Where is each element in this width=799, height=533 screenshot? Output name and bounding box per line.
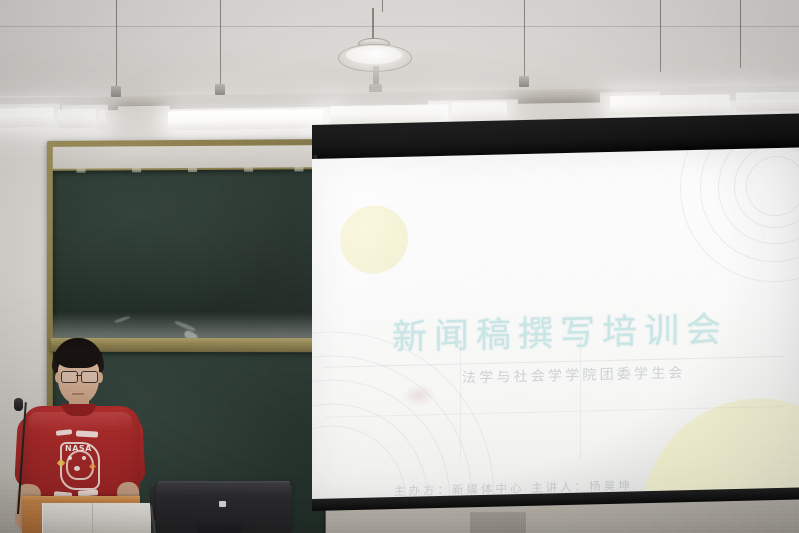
light-tube-icon [168, 109, 323, 130]
tshirt-graphic: NASA [52, 430, 104, 502]
blackboard-clip [244, 168, 253, 172]
fan-rod [372, 8, 374, 40]
slide-subtitle: 法学与社会学学院团委学生会 [462, 362, 686, 387]
light-tube-icon [736, 91, 799, 111]
slide-decor-circle-top-left [340, 205, 408, 275]
suspension-wire [660, 0, 661, 72]
graphic-dot [82, 456, 86, 460]
suspension-wire [116, 0, 117, 88]
suspension-wire [382, 0, 383, 12]
blackboard-clip [188, 168, 197, 172]
slide-decor-arc [746, 155, 799, 216]
wire-mount [215, 84, 225, 95]
glasses-icon [61, 371, 78, 383]
suspension-wire [740, 0, 741, 68]
microphone-head [14, 398, 23, 411]
baseboard-strip [470, 512, 526, 533]
light-tube-icon [452, 102, 507, 122]
light-tube-icon [0, 107, 54, 127]
suspension-wire [524, 0, 525, 78]
light-tube-icon [98, 110, 106, 129]
monitor-badge [219, 501, 226, 507]
monitor-stand-hinge [196, 514, 242, 533]
suspension-wire [220, 0, 221, 86]
slide-decor-line [460, 341, 461, 461]
tshirt-graphic-text: NASA [65, 444, 92, 453]
graphic-band [76, 430, 98, 437]
projection-screen-icon: 新闻稿撰写培训会 法学与社会学学院团委学生会 主办方：新媒体中心 主讲人：杨昊坤 [312, 125, 799, 517]
podium-front-panel [42, 503, 151, 533]
blackboard-clip [294, 167, 303, 171]
graphic-dot [68, 456, 72, 460]
glasses-icon [81, 371, 98, 383]
wire-mount [519, 76, 529, 87]
ceiling-seam [0, 26, 799, 27]
blackboard-clip [132, 168, 141, 172]
podium-panel-seam [92, 503, 93, 533]
tube-housing [118, 106, 170, 117]
light-tube-icon [610, 94, 730, 115]
graphic-band [56, 429, 72, 436]
lecture-hall-photo: 新闻稿撰写培训会 法学与社会学学院团委学生会 主办方：新媒体中心 主讲人：杨昊坤 [0, 0, 799, 533]
slide-title: 新闻稿撰写培训会 [392, 299, 799, 360]
slide-decor-line [580, 339, 581, 459]
podium-top [22, 496, 140, 502]
light-tube-icon [58, 109, 96, 129]
slide-canvas: 新闻稿撰写培训会 法学与社会学学院团委学生会 主办方：新媒体中心 主讲人：杨昊坤 [312, 147, 799, 504]
blackboard-clip [77, 169, 86, 173]
blackboard-top-gap [53, 145, 326, 169]
fan-stem [373, 66, 379, 86]
wire-mount [111, 86, 121, 97]
glasses-bridge [76, 375, 81, 376]
fan-blade-highlight [346, 46, 402, 64]
mouth [72, 393, 84, 395]
graphic-dot [74, 466, 80, 471]
